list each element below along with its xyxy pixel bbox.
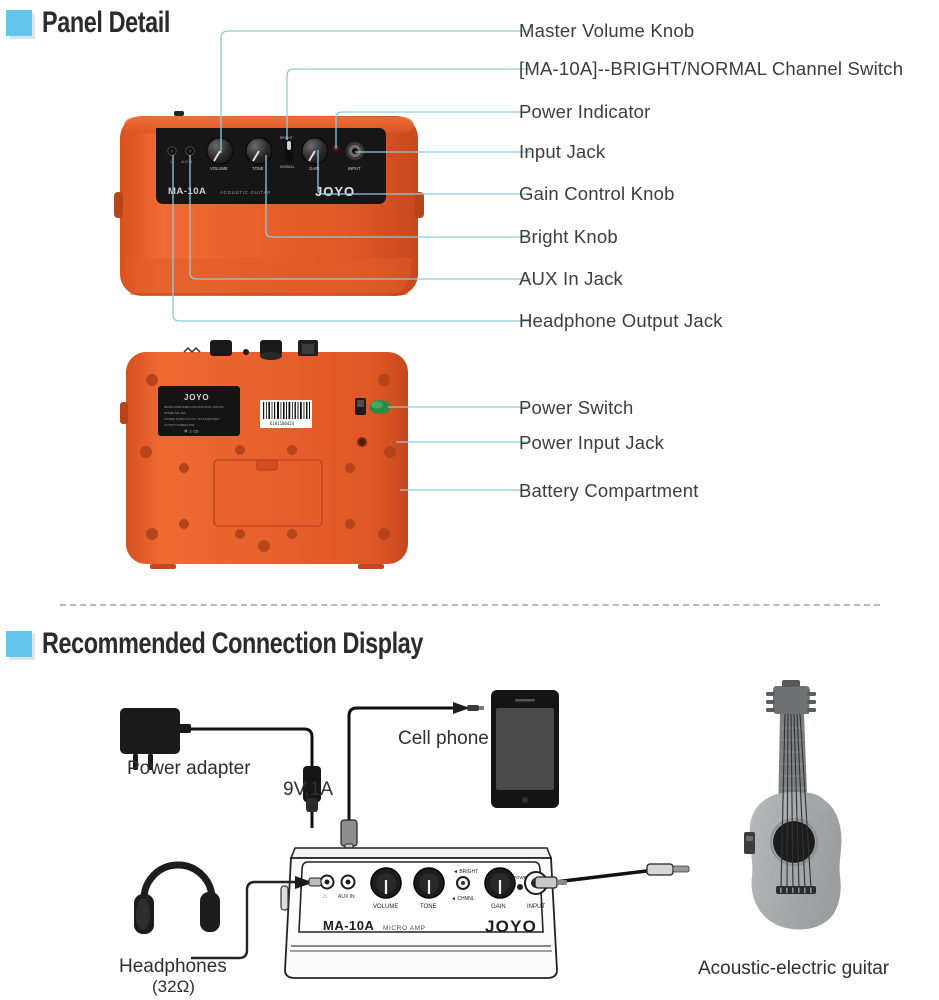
label-power-rating: 9V,1A bbox=[283, 779, 333, 801]
power-adapter-text: Power adapter bbox=[127, 758, 251, 779]
svg-text:TONE: TONE bbox=[252, 166, 264, 171]
callout-power-input-jack: Power Input Jack bbox=[519, 432, 664, 454]
svg-text:JOYO: JOYO bbox=[315, 184, 355, 199]
callout-master-volume-knob: Master Volume Knob bbox=[519, 20, 694, 42]
panel-detail-heading: Panel Detail bbox=[6, 6, 206, 40]
heading-swatch-icon bbox=[6, 10, 32, 36]
svg-text:MICRO AMP: MICRO AMP bbox=[383, 925, 426, 932]
cell-phone-graphic bbox=[491, 690, 559, 808]
svg-text:◄ BRIGHT: ◄ BRIGHT bbox=[453, 869, 478, 875]
svg-text:⌂: ⌂ bbox=[323, 894, 327, 900]
svg-text:JOYO: JOYO bbox=[184, 393, 209, 402]
headphones-graphic bbox=[130, 840, 240, 950]
callout-label-text: Gain Control Knob bbox=[519, 183, 675, 204]
callout-label-text: Power Indicator bbox=[519, 101, 651, 122]
callout-input-jack: Input Jack bbox=[519, 141, 605, 163]
callout-power-switch: Power Switch bbox=[519, 397, 633, 419]
guitar-plug-right bbox=[647, 864, 689, 875]
heading-swatch-icon bbox=[6, 631, 32, 657]
callout-label-text: Bright Knob bbox=[519, 226, 618, 247]
svg-text:GAIN: GAIN bbox=[309, 166, 319, 171]
section-divider bbox=[60, 604, 880, 606]
svg-text:MA-10A: MA-10A bbox=[323, 918, 375, 933]
svg-text:NORMAL: NORMAL bbox=[280, 165, 295, 169]
svg-text:TONE: TONE bbox=[420, 904, 437, 910]
callout-aux-in-jack: AUX In Jack bbox=[519, 268, 623, 290]
svg-text:MA-10A: MA-10A bbox=[168, 186, 206, 197]
acoustic-electric-guitar-graphic bbox=[730, 672, 930, 952]
amp-line-art: ⌂ AUX IN VOLUME TONE ◄ BRIGHT ◄ CHNNL GA… bbox=[281, 848, 557, 978]
phone-plug bbox=[453, 702, 484, 714]
label-acoustic-electric-guitar: Acoustic-electric guitar bbox=[698, 958, 889, 980]
callout-label-text: AUX In Jack bbox=[519, 268, 623, 289]
svg-text:⌂: ⌂ bbox=[170, 160, 172, 164]
callout-label-text: Headphone Output Jack bbox=[519, 310, 723, 331]
callout-power-indicator: Power Indicator bbox=[519, 101, 651, 123]
svg-text:AUX IN: AUX IN bbox=[338, 894, 355, 900]
callout-channel-switch: [MA-10A]--BRIGHT/NORMAL Channel Switch bbox=[519, 58, 903, 80]
svg-text:MODEL:MA-10A: MODEL:MA-10A bbox=[164, 411, 186, 415]
power-rating-text: 9V,1A bbox=[283, 779, 333, 800]
label-power-adapter: Power adapter bbox=[127, 758, 251, 780]
svg-text:♻ ⚠ CE: ♻ ⚠ CE bbox=[184, 429, 199, 434]
callout-label-text: Power Switch bbox=[519, 397, 633, 418]
back-amp-illustration: JOYO MICRO AMPLIFIER FOR ACOUSTIC GUITAR… bbox=[112, 338, 424, 580]
svg-text:◄ CHNNL: ◄ CHNNL bbox=[451, 896, 475, 902]
headphones-text: Headphones bbox=[119, 956, 227, 977]
callout-bright-knob: Bright Knob bbox=[519, 226, 618, 248]
callout-battery-compartment: Battery Compartment bbox=[519, 480, 699, 502]
guitar-plug-left bbox=[535, 877, 567, 888]
panel-detail-title: Panel Detail bbox=[42, 6, 170, 40]
svg-text:VOLUME: VOLUME bbox=[373, 904, 398, 910]
label-headphones-impedance: (32Ω) bbox=[152, 977, 195, 997]
svg-text:VOLUME: VOLUME bbox=[210, 166, 228, 171]
svg-text:OUTPUT POWER:10W: OUTPUT POWER:10W bbox=[164, 423, 195, 427]
callout-label-text: Power Input Jack bbox=[519, 432, 664, 453]
front-amp-illustration: ⌂ AUX IN VOLUME TONE BRIGHT NORMAL GAIN … bbox=[110, 108, 430, 308]
cell-phone-text: Cell phone bbox=[398, 728, 489, 749]
label-headphones: Headphones bbox=[119, 956, 227, 978]
svg-text:BRIGHT: BRIGHT bbox=[280, 136, 293, 140]
headphones-impedance-text: (32Ω) bbox=[152, 977, 195, 996]
svg-text:POWER SUPPLY:DC 9V / 6X AA BAT: POWER SUPPLY:DC 9V / 6X AA BATTERY bbox=[164, 417, 220, 421]
svg-text:AUX IN: AUX IN bbox=[181, 160, 193, 164]
svg-text:ACOUSTIC GUITAR: ACOUSTIC GUITAR bbox=[220, 190, 271, 195]
svg-text:INPUT: INPUT bbox=[527, 904, 545, 910]
svg-text:INPUT: INPUT bbox=[348, 166, 361, 171]
callout-label-text: Battery Compartment bbox=[519, 480, 699, 501]
svg-text:MICRO AMPLIFIER FOR ACOUSTIC G: MICRO AMPLIFIER FOR ACOUSTIC GUITAR bbox=[164, 405, 224, 409]
callout-headphone-output-jack: Headphone Output Jack bbox=[519, 310, 723, 332]
callout-label-text: Input Jack bbox=[519, 141, 605, 162]
callout-label-text: [MA-10A]--BRIGHT/NORMAL Channel Switch bbox=[519, 58, 903, 79]
svg-text:JOYO: JOYO bbox=[485, 917, 537, 936]
callout-gain-control-knob: Gain Control Knob bbox=[519, 183, 675, 205]
connection-display-heading: Recommended Connection Display bbox=[6, 627, 530, 661]
label-cell-phone: Cell phone bbox=[398, 728, 489, 750]
callout-label-text: Master Volume Knob bbox=[519, 20, 694, 41]
connection-display-title: Recommended Connection Display bbox=[42, 627, 423, 661]
svg-text:GAIN: GAIN bbox=[491, 904, 506, 910]
svg-text:6181106424: 6181106424 bbox=[270, 421, 295, 426]
guitar-text: Acoustic-electric guitar bbox=[698, 958, 889, 979]
